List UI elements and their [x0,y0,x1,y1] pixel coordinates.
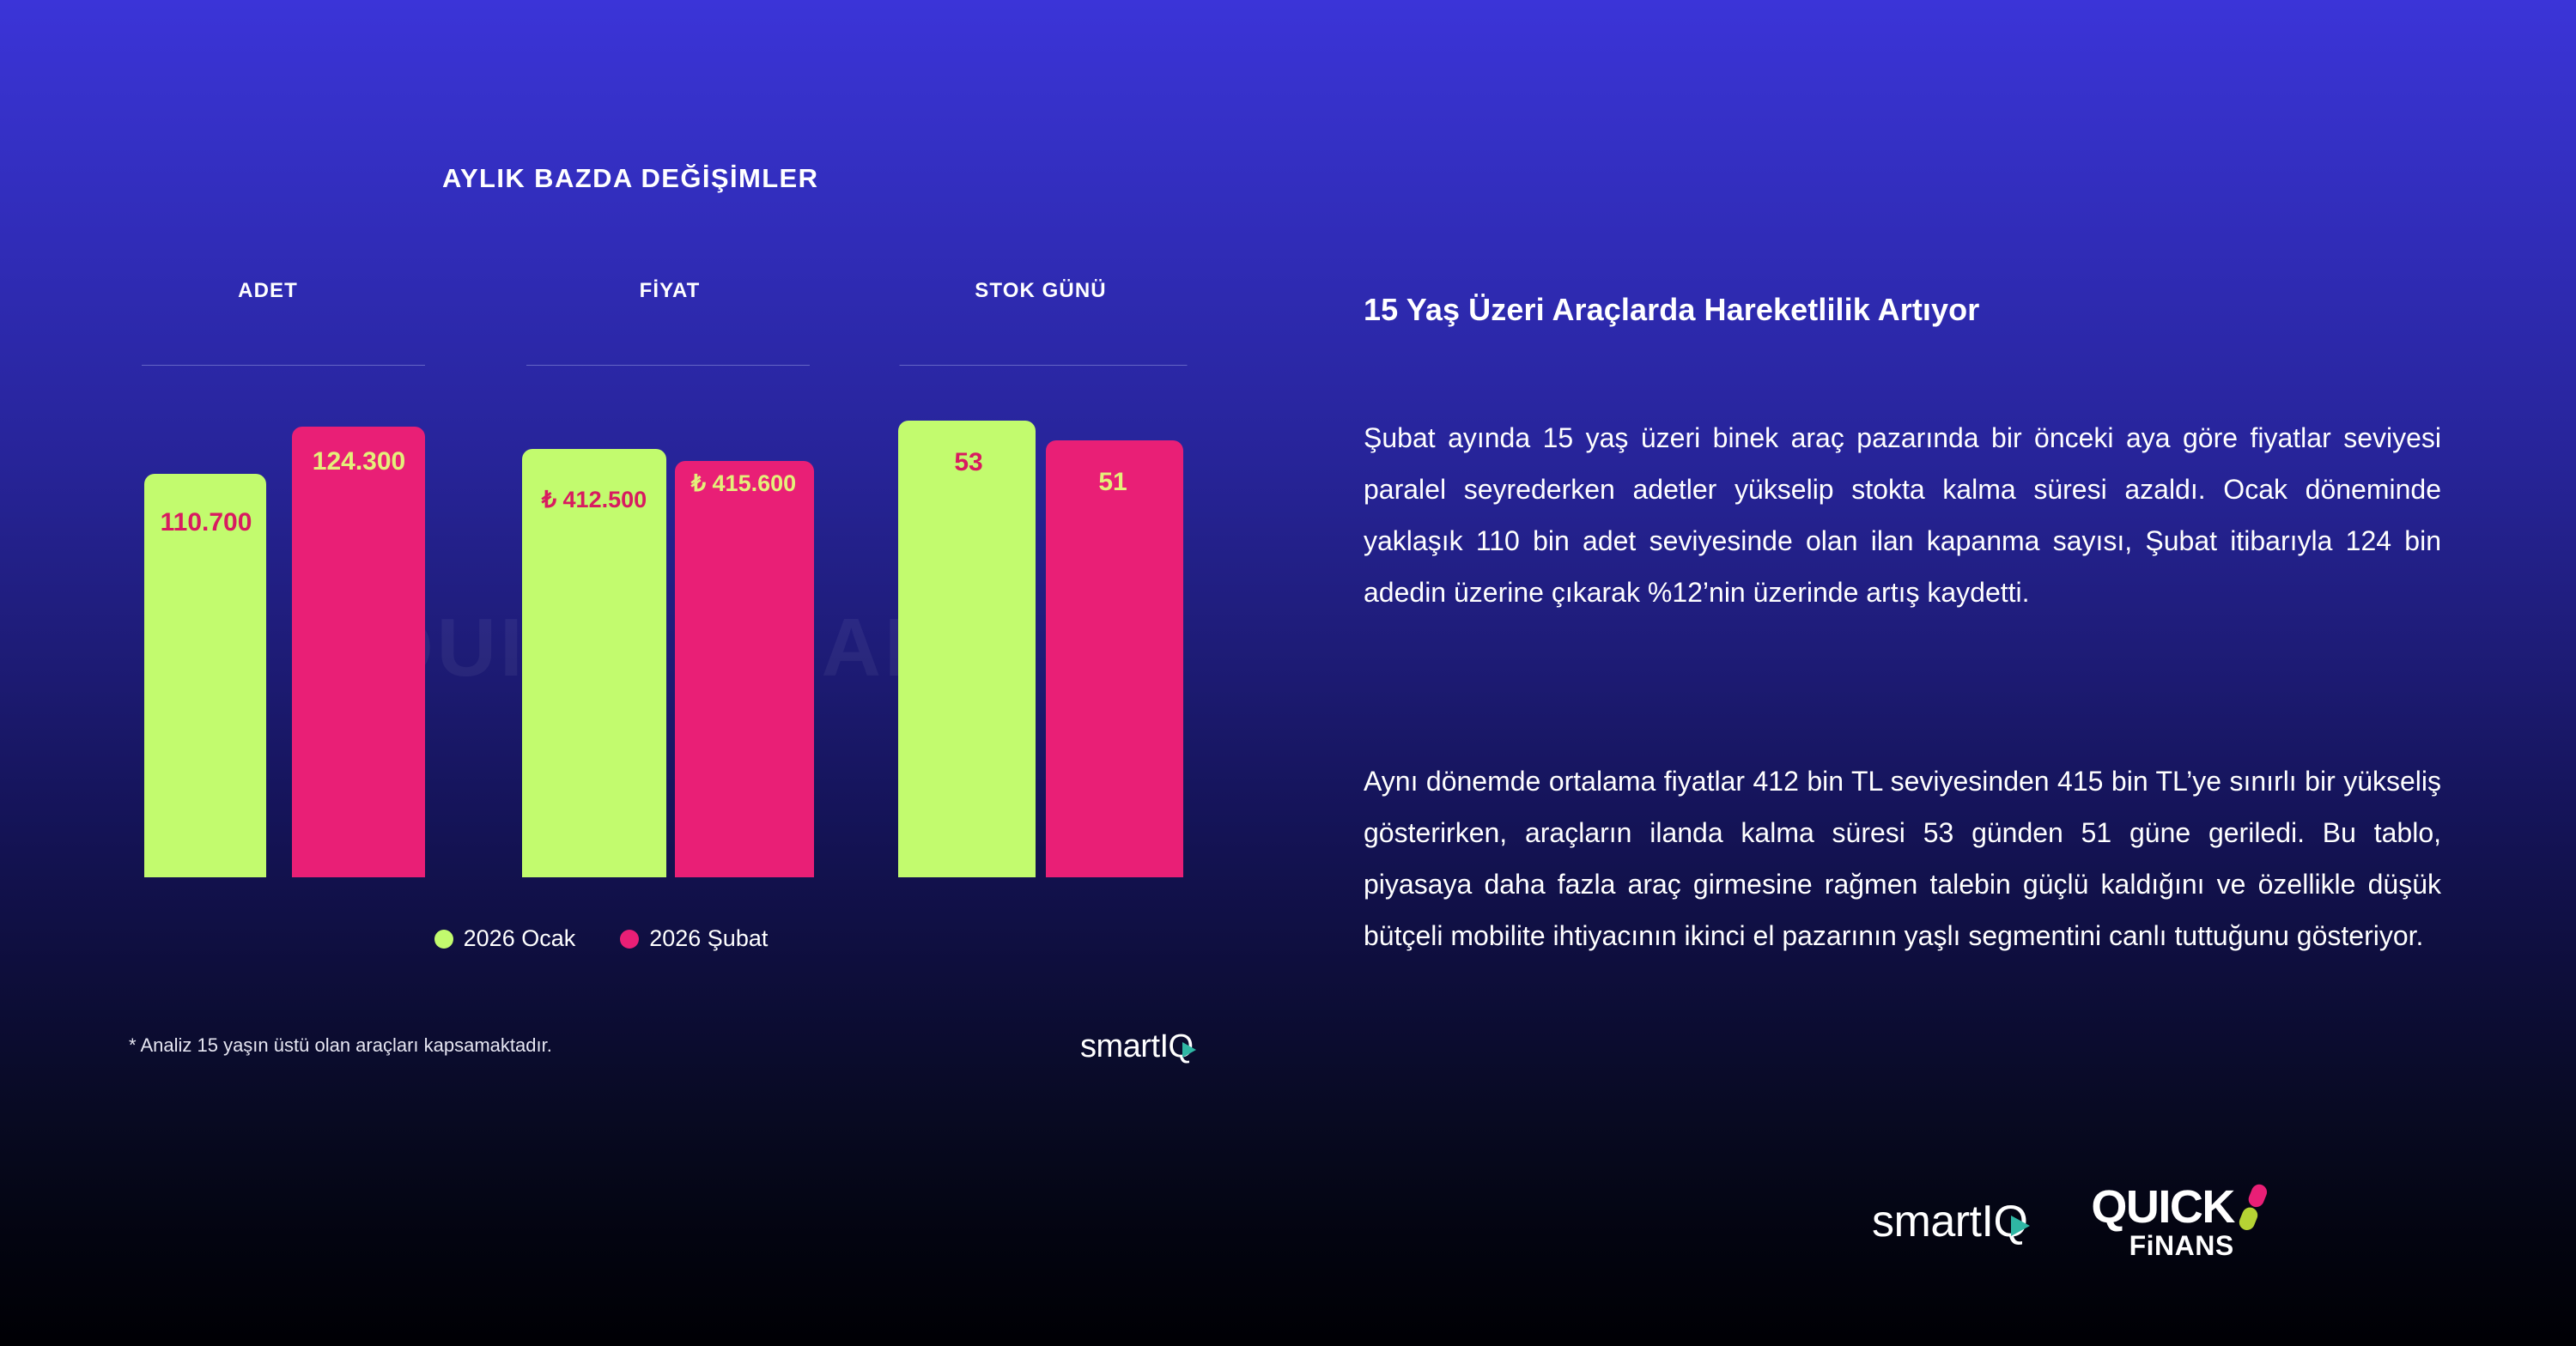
chart-title: AYLIK BAZDA DEĞİŞİMLER [442,163,818,194]
chart-footnote: * Analiz 15 yaşın üstü olan araçları kap… [129,1034,552,1057]
smartiq-play-triangle-icon [1179,1040,1198,1059]
legend-swatch-icon-subat [620,930,639,949]
quickfinans-subtitle: FiNANS [2129,1230,2234,1262]
bar-stok-ocak [898,421,1036,877]
group-heading-stok-gunu: STOK GÜNÜ [975,279,1106,303]
smartiq-logo-text: smartIQ [1872,1196,2027,1247]
bar-stok-subat [1046,440,1183,877]
article-headline: 15 Yaş Üzeri Araçlarda Hareketlilik Artı… [1364,292,2480,328]
quickfinans-top-row: QUICK [2091,1180,2272,1234]
brand-footer: smartIQ QUICK FiNANS [1872,1180,2272,1262]
quickfinans-logo[interactable]: QUICK FiNANS [2091,1180,2272,1262]
quickfinans-slash-icon [2233,1180,2272,1234]
infographic-canvas: AYLIK BAZDA DEĞİŞİMLER QUICK FiNANS ADET… [0,0,2576,1346]
chart-legend: 2026 Ocak 2026 Şubat [0,925,1202,952]
smartiq-play-triangle-icon [2007,1213,2032,1239]
group-heading-fiyat: FİYAT [640,279,701,303]
legend-label-subat: 2026 Şubat [649,925,768,952]
legend-swatch-icon-ocak [434,930,453,949]
bar-label-fiyat-subat: ₺ 415.600 [691,470,796,497]
bar-label-stok-subat: 51 [1098,468,1127,497]
legend-item-ocak[interactable]: 2026 Ocak [434,925,576,952]
quickfinans-logo-text: QUICK [2091,1180,2234,1234]
chart-smartiq-logo: smartIQ [1080,1028,1198,1065]
article-paragraph-1: Şubat ayında 15 yaş üzeri binek araç paz… [1364,412,2441,619]
chart-smartiq-logo-text: smartIQ [1080,1028,1194,1065]
bar-fiyat-subat [675,461,814,877]
bar-label-fiyat-ocak: ₺ 412.500 [542,487,647,513]
article-panel: 15 Yaş Üzeri Araçlarda Hareketlilik Artı… [1364,0,2480,1346]
chart-panel: AYLIK BAZDA DEĞİŞİMLER QUICK FiNANS ADET… [0,0,1314,1346]
bar-adet-subat [292,427,425,877]
smartiq-logo[interactable]: smartIQ [1872,1196,2032,1247]
article-paragraph-2: Aynı dönemde ortalama fiyatlar 412 bin T… [1364,755,2441,962]
group-heading-adet: ADET [238,279,298,303]
group-rule-adet [142,365,425,366]
group-rule-fiyat [526,365,810,366]
legend-label-ocak: 2026 Ocak [464,925,576,952]
bar-label-stok-ocak: 53 [954,448,982,477]
legend-item-subat[interactable]: 2026 Şubat [620,925,768,952]
group-rule-stok-gunu [900,365,1188,366]
bar-label-adet-ocak: 110.700 [161,508,252,537]
bar-label-adet-subat: 124.300 [313,447,405,476]
